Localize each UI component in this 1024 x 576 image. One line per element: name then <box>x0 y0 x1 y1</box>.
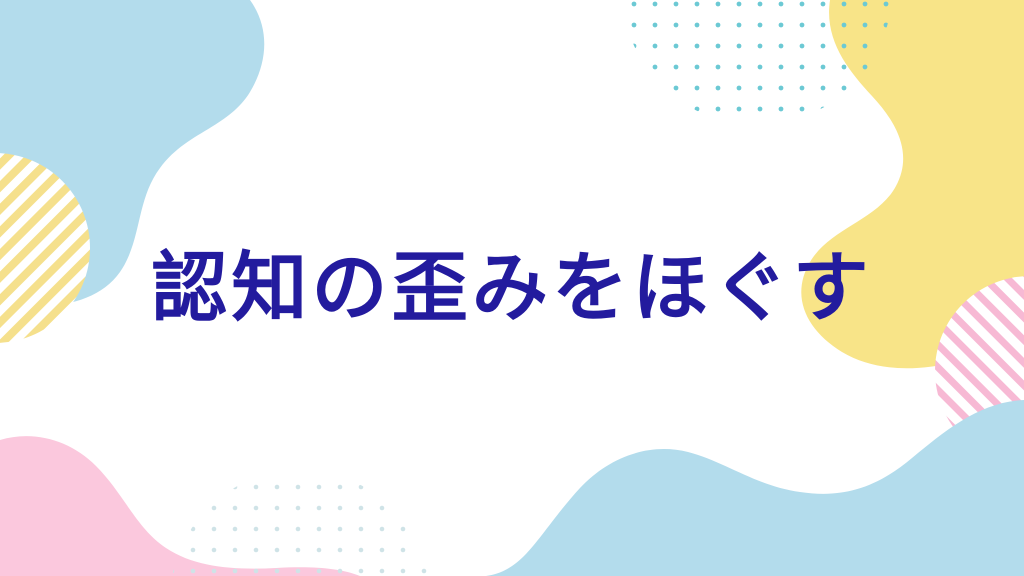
title-container: 認知の歪みをほぐす <box>0 0 1024 576</box>
page-title: 認知の歪みをほぐす <box>151 245 873 330</box>
title-slide: 認知の歪みをほぐす <box>0 0 1024 576</box>
